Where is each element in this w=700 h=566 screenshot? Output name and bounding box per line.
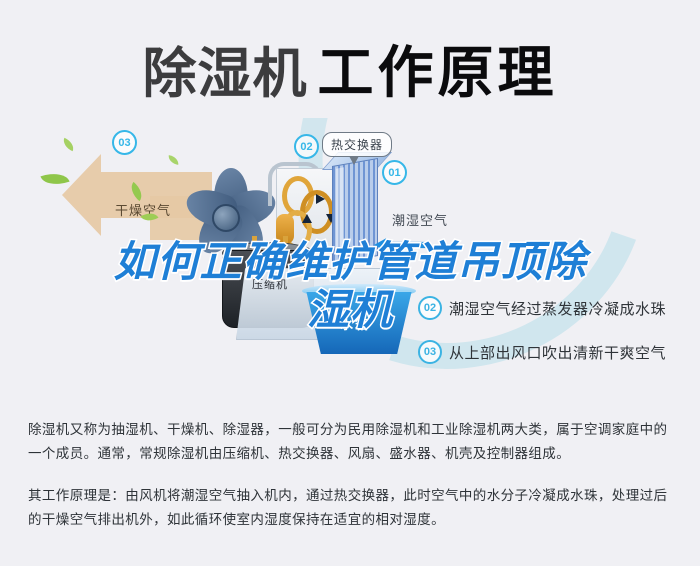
body-paragraph-2: 其工作原理是：由风机将潮湿空气抽入机内，通过热交换器，此时空气中的水分子冷凝成水… bbox=[28, 484, 676, 532]
leaf-icon bbox=[40, 168, 69, 189]
evaporator-highlight bbox=[336, 167, 344, 252]
body-paragraph-1: 除湿机又称为抽湿机、干燥机、除湿器，一般可分为民用除湿机和工业除湿机两大类，属于… bbox=[28, 418, 676, 466]
legend-item: 02 潮湿空气经过蒸发器冷凝成水珠 bbox=[418, 296, 694, 320]
page-title: 除湿机工作原理 bbox=[0, 28, 700, 109]
heat-exchanger-callout: 热交换器 bbox=[322, 132, 392, 157]
article-body: 除湿机又称为抽湿机、干燥机、除湿器，一般可分为民用除湿机和工业除湿机两大类，属于… bbox=[28, 418, 676, 550]
leaf-icon bbox=[61, 138, 77, 152]
badge-03: 03 bbox=[112, 130, 137, 155]
badge-02: 02 bbox=[294, 134, 319, 159]
legend-item: 03 从上部出风口吹出清新干爽空气 bbox=[418, 340, 694, 364]
humid-air-label: 潮湿空气 bbox=[392, 210, 448, 229]
legend-number: 02 bbox=[418, 296, 442, 320]
compressor-label: 压缩机 bbox=[252, 276, 288, 292]
title-part-dehumidifier: 除湿机 bbox=[143, 44, 308, 104]
flow-arrow-right-icon bbox=[316, 194, 325, 204]
page-root: 除湿机工作原理 干燥空气 bbox=[0, 0, 700, 566]
legend-list: 02 潮湿空气经过蒸发器冷凝成水珠 03 从上部出风口吹出清新干爽空气 bbox=[418, 296, 694, 384]
legend-text: 潮湿空气经过蒸发器冷凝成水珠 bbox=[449, 298, 666, 319]
legend-text: 从上部出风口吹出清新干爽空气 bbox=[449, 342, 666, 363]
title-part-principle: 工作原理 bbox=[318, 41, 558, 104]
badge-01: 01 bbox=[382, 160, 407, 185]
legend-number: 03 bbox=[418, 340, 442, 364]
water-tank-label: 水箱 bbox=[340, 314, 370, 333]
flow-arrow-down-icon bbox=[302, 214, 312, 223]
